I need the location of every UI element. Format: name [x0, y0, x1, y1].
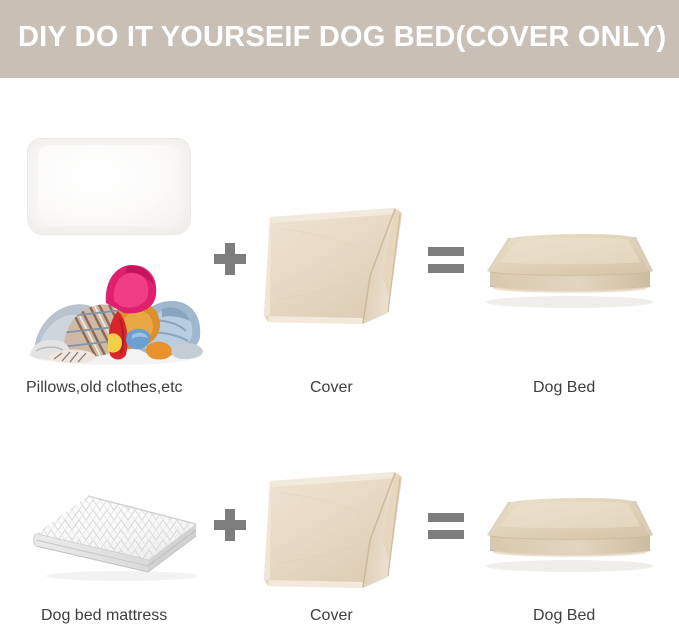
caption-dog-bed-bottom: Dog Bed: [533, 607, 595, 625]
white-pillow: [27, 138, 191, 235]
plus-icon-vertical: [225, 243, 235, 275]
equals-icon-bar-top: [428, 513, 464, 522]
clothes-pile: [22, 243, 208, 365]
plus-icon-vertical: [225, 509, 235, 541]
equals-icon-bar-top: [428, 247, 464, 256]
dog-bed-mattress: [30, 490, 210, 582]
caption-dog-bed-mattress: Dog bed mattress: [41, 607, 167, 625]
equals-icon-bar-bottom: [428, 264, 464, 273]
equals-operator: [428, 513, 464, 539]
equals-operator: [428, 247, 464, 273]
plus-operator: [214, 243, 246, 275]
finished-dog-bed: [474, 228, 664, 314]
caption-pillows-old-clothes: Pillows,old clothes,etc: [26, 379, 183, 397]
page-title: DIY DO IT YOURSEIF DOG BED(COVER ONLY): [18, 21, 666, 54]
bed-cover: [262, 203, 412, 331]
equals-icon-bar-bottom: [428, 530, 464, 539]
finished-dog-bed: [474, 492, 664, 578]
plus-operator: [214, 509, 246, 541]
caption-dog-bed-top: Dog Bed: [533, 379, 595, 397]
bed-cover: [262, 467, 412, 595]
header-bar: DIY DO IT YOURSEIF DOG BED(COVER ONLY): [0, 0, 679, 78]
caption-cover-bottom: Cover: [310, 607, 353, 625]
caption-cover-top: Cover: [310, 379, 353, 397]
